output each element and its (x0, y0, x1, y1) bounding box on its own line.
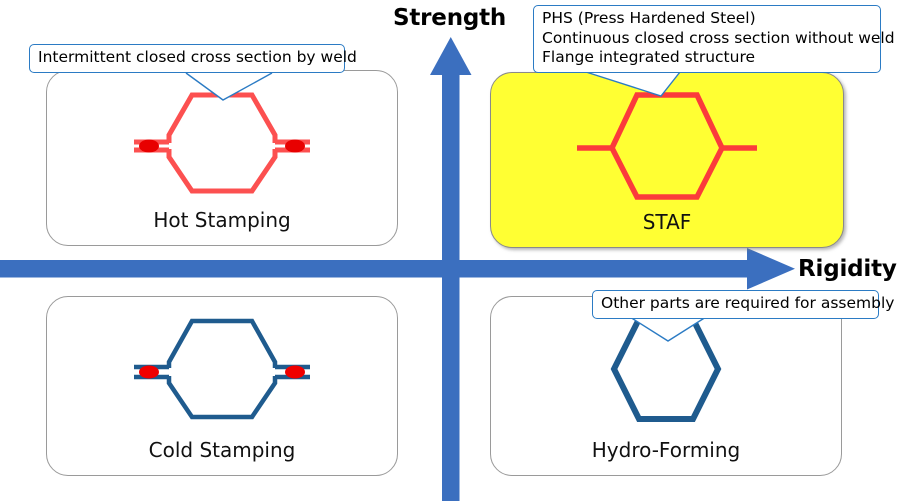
callout-phs: PHS (Press Hardened Steel) Continuous cl… (533, 5, 881, 73)
weld-spot-left (139, 140, 159, 153)
quadrant-staf[interactable]: STAF (490, 72, 844, 248)
quadrant-diagram: Strength Rigidity (0, 0, 900, 501)
callout-intermittent-weld: Intermittent closed cross section by wel… (29, 44, 345, 73)
quadrant-title-cold-stamping: Cold Stamping (47, 438, 397, 462)
hot-stamping-cross-section (47, 79, 397, 199)
rigidity-axis-arrow (0, 248, 795, 290)
quadrant-hydro-forming[interactable]: Hydro-Forming (490, 296, 842, 476)
strength-axis-label: Strength (393, 5, 506, 31)
rigidity-axis-label: Rigidity (798, 256, 897, 282)
weld-spot-right (285, 366, 305, 379)
cold-stamping-cross-section (47, 305, 397, 425)
quadrant-title-staf: STAF (491, 210, 843, 234)
weld-spot-right (285, 140, 305, 153)
quadrant-cold-stamping[interactable]: Cold Stamping (46, 296, 398, 476)
strength-axis-arrow (430, 37, 472, 501)
weld-spot-left (139, 366, 159, 379)
quadrant-title-hydro-forming: Hydro-Forming (491, 438, 841, 462)
hydro-forming-cross-section (491, 305, 841, 425)
callout-phs-line-3: Flange integrated structure (542, 48, 872, 68)
quadrant-hot-stamping[interactable]: Hot Stamping (46, 70, 398, 246)
callout-other-parts-required: Other parts are required for assembly (592, 290, 879, 319)
callout-phs-line-1: PHS (Press Hardened Steel) (542, 9, 872, 29)
callout-phs-line-2: Continuous closed cross section without … (542, 29, 872, 49)
quadrant-title-hot-stamping: Hot Stamping (47, 208, 397, 232)
staf-cross-section (491, 81, 843, 201)
